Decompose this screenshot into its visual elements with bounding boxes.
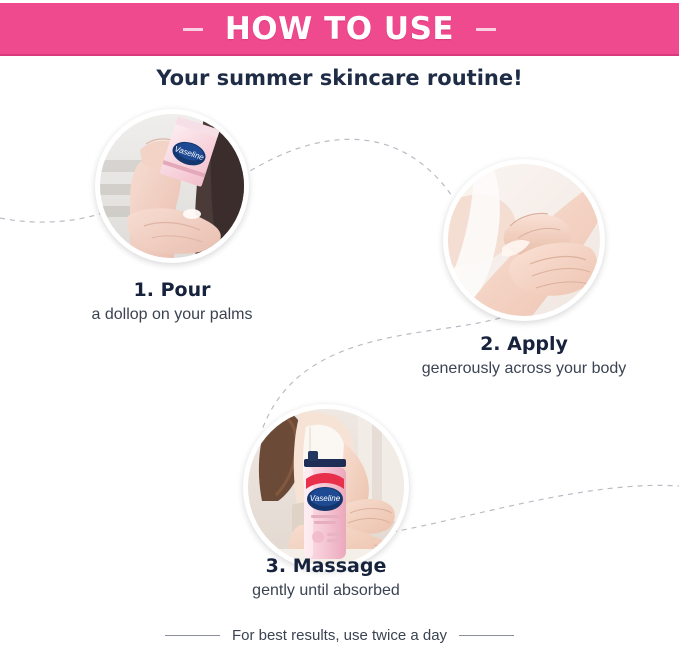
footer-right-rule	[459, 635, 514, 636]
step-3-title: 3. Massage	[196, 556, 456, 578]
step-2-title: 2. Apply	[394, 334, 654, 356]
footer-text: For best results, use twice a day	[232, 627, 447, 644]
step-3-illustration: Vaseline	[248, 409, 404, 565]
page-title: HOW TO USE	[225, 14, 454, 45]
vaseline-bottle: Vaseline	[304, 451, 346, 559]
step-2-illustration	[448, 164, 600, 316]
header-left-dash-icon	[183, 28, 203, 31]
step-2-photo	[443, 159, 605, 321]
step-3-photo: Vaseline	[243, 404, 409, 570]
step-1-caption: 1. Pour a dollop on your palms	[42, 280, 302, 326]
step-3-caption: 3. Massage gently until absorbed	[196, 556, 456, 602]
footer-left-rule	[165, 635, 220, 636]
header-right-dash-icon	[476, 28, 496, 31]
step-3-description: gently until absorbed	[196, 581, 456, 602]
step-1-description: a dollop on your palms	[42, 305, 302, 326]
subtitle: Your summer skincare routine!	[0, 66, 679, 90]
step-1-photo: Vaseline	[95, 109, 249, 263]
svg-text:Vaseline: Vaseline	[310, 494, 341, 503]
step-1-title: 1. Pour	[42, 280, 302, 302]
step-1-illustration: Vaseline	[100, 114, 244, 258]
step-2-description: generously across your body	[394, 359, 654, 380]
step-2-caption: 2. Apply generously across your body	[394, 334, 654, 380]
footer: For best results, use twice a day	[0, 627, 679, 644]
how-to-use-infographic: HOW TO USE Your summer skincare routine!	[0, 0, 679, 657]
header-bar: HOW TO USE	[0, 3, 679, 56]
